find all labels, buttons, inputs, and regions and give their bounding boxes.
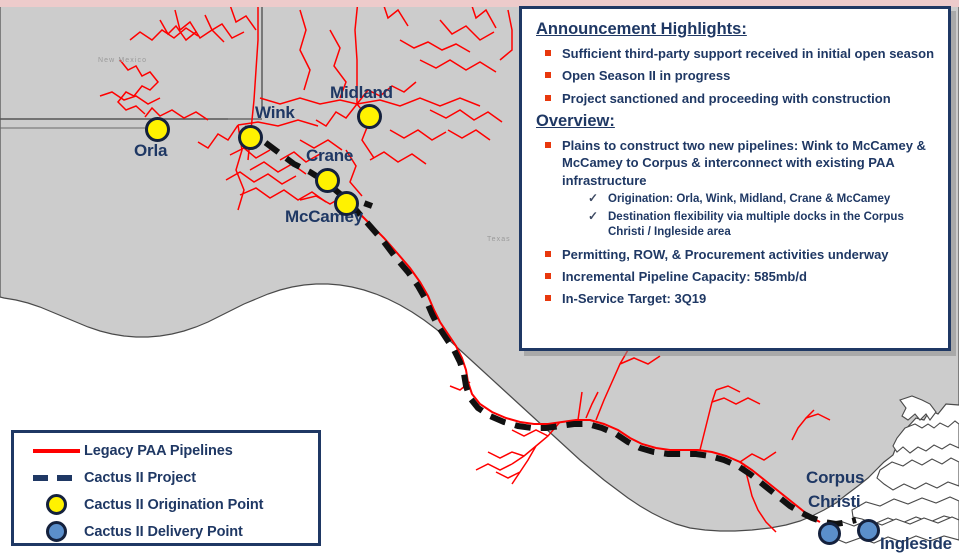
- state-label-new-mexico: New Mexico: [98, 57, 147, 64]
- square-bullet-icon: [545, 95, 551, 101]
- legend-swatch-solid-red-line: [28, 449, 84, 453]
- section-heading-overview: Overview:: [536, 112, 936, 132]
- legend-label: Cactus II Delivery Point: [84, 524, 243, 540]
- bullet-text: Sufficient third-party support received …: [562, 46, 934, 61]
- legend-row-legacy-paa-pipelines: Legacy PAA Pipelines: [14, 437, 318, 464]
- sub-bullet-text: Origination: Orla, Wink, Midland, Crane …: [608, 193, 890, 205]
- city-label-ingleside: Ingleside: [880, 534, 952, 554]
- bullet-text: Permitting, ROW, & Procurement activitie…: [562, 247, 889, 262]
- legend-label: Cactus II Project: [84, 470, 196, 486]
- bullet-text: In-Service Target: 3Q19: [562, 291, 706, 306]
- bullet-text: Plains to construct two new pipelines: W…: [562, 138, 926, 188]
- city-label-midland: Midland: [330, 83, 393, 103]
- bullet-text: Project sanctioned and proceeding with c…: [562, 91, 891, 106]
- section-heading-announcement-highlights: Announcement Highlights:: [536, 20, 936, 40]
- bullet-item: Incremental Pipeline Capacity: 585mb/d: [536, 268, 936, 285]
- bullet-item: Open Season II in progress: [536, 67, 936, 84]
- square-bullet-icon: [545, 251, 551, 257]
- legend-row-cactus-ii-project: Cactus II Project: [14, 464, 318, 491]
- bullet-text: Open Season II in progress: [562, 68, 730, 83]
- map-legend: Legacy PAA Pipelines Cactus II Project C…: [11, 430, 321, 546]
- marker-origination-mccamey[interactable]: [334, 191, 359, 216]
- announcement-callout-panel: Announcement Highlights: Sufficient thir…: [519, 6, 951, 351]
- city-label-crane: Crane: [306, 146, 353, 166]
- city-label-orla: Orla: [134, 141, 167, 161]
- legend-swatch-blue-circle: [28, 521, 84, 542]
- marker-origination-orla[interactable]: [145, 117, 170, 142]
- marker-origination-crane[interactable]: [315, 168, 340, 193]
- map-slide: New Mexico Texas Orla Wink Midland Crane…: [0, 0, 959, 555]
- legend-row-cactus-ii-delivery: Cactus II Delivery Point: [14, 518, 318, 545]
- bullet-item: Sufficient third-party support received …: [536, 45, 936, 62]
- bullet-item: Plains to construct two new pipelines: W…: [536, 137, 936, 241]
- sub-bullet-item: ✓ Destination flexibility via multiple d…: [562, 210, 936, 240]
- square-bullet-icon: [545, 142, 551, 148]
- city-label-corpus: Corpus: [806, 468, 864, 488]
- square-bullet-icon: [545, 295, 551, 301]
- legend-swatch-dashed-navy-line: [28, 475, 84, 481]
- bullet-item: In-Service Target: 3Q19: [536, 290, 936, 307]
- marker-delivery-ingleside[interactable]: [857, 519, 880, 542]
- bullet-text: Incremental Pipeline Capacity: 585mb/d: [562, 269, 807, 284]
- square-bullet-icon: [545, 273, 551, 279]
- sub-bullet-text: Destination flexibility via multiple doc…: [608, 211, 904, 238]
- legend-label: Cactus II Origination Point: [84, 497, 263, 513]
- check-icon: ✓: [588, 209, 598, 225]
- city-label-wink: Wink: [255, 103, 295, 123]
- square-bullet-icon: [545, 50, 551, 56]
- bullet-list-announcement-highlights: Sufficient third-party support received …: [536, 45, 936, 107]
- marker-origination-wink[interactable]: [238, 125, 263, 150]
- sub-bullet-item: ✓ Origination: Orla, Wink, Midland, Cran…: [562, 192, 936, 207]
- legend-swatch-yellow-circle: [28, 494, 84, 515]
- state-label-texas: Texas: [487, 236, 511, 243]
- marker-delivery-corpus-christi[interactable]: [818, 522, 841, 545]
- bullet-item: Project sanctioned and proceeding with c…: [536, 90, 936, 107]
- square-bullet-icon: [545, 72, 551, 78]
- marker-origination-midland[interactable]: [357, 104, 382, 129]
- sub-bullet-list: ✓ Origination: Orla, Wink, Midland, Cran…: [562, 192, 936, 241]
- city-label-christi: Christi: [808, 492, 860, 512]
- legend-label: Legacy PAA Pipelines: [84, 443, 233, 459]
- legend-row-cactus-ii-origination: Cactus II Origination Point: [14, 491, 318, 518]
- bullet-item: Permitting, ROW, & Procurement activitie…: [536, 246, 936, 263]
- check-icon: ✓: [588, 191, 598, 207]
- bullet-list-overview: Plains to construct two new pipelines: W…: [536, 137, 936, 308]
